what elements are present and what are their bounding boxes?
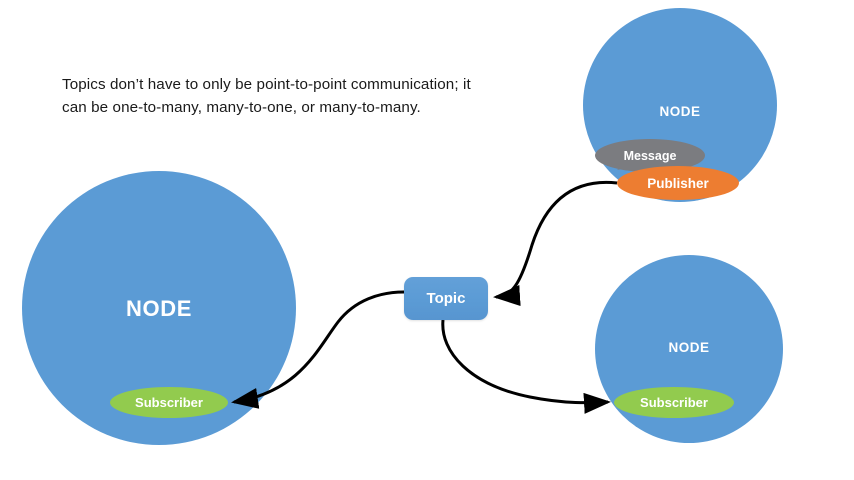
arrow-topic-to-subscriber-right <box>443 320 608 403</box>
node-label-left: NODE <box>22 296 296 322</box>
subscriber-ellipse-left[interactable]: Subscriber <box>110 387 228 418</box>
subscriber-label-left: Subscriber <box>135 395 203 410</box>
subscriber-ellipse-right[interactable]: Subscriber <box>614 387 734 418</box>
topic-box[interactable]: Topic <box>404 277 488 320</box>
publisher-ellipse[interactable]: Publisher <box>617 166 739 200</box>
diagram-slide: Topics don’t have to only be point-to-po… <box>0 0 854 480</box>
node-label-top-right: NODE <box>583 104 777 119</box>
subscriber-label-right: Subscriber <box>640 395 708 410</box>
publisher-label: Publisher <box>647 176 709 191</box>
node-label-bottom-right: NODE <box>595 340 783 355</box>
arrow-publisher-to-topic <box>496 182 617 297</box>
caption-text: Topics don’t have to only be point-to-po… <box>62 73 482 119</box>
topic-label: Topic <box>427 290 466 307</box>
